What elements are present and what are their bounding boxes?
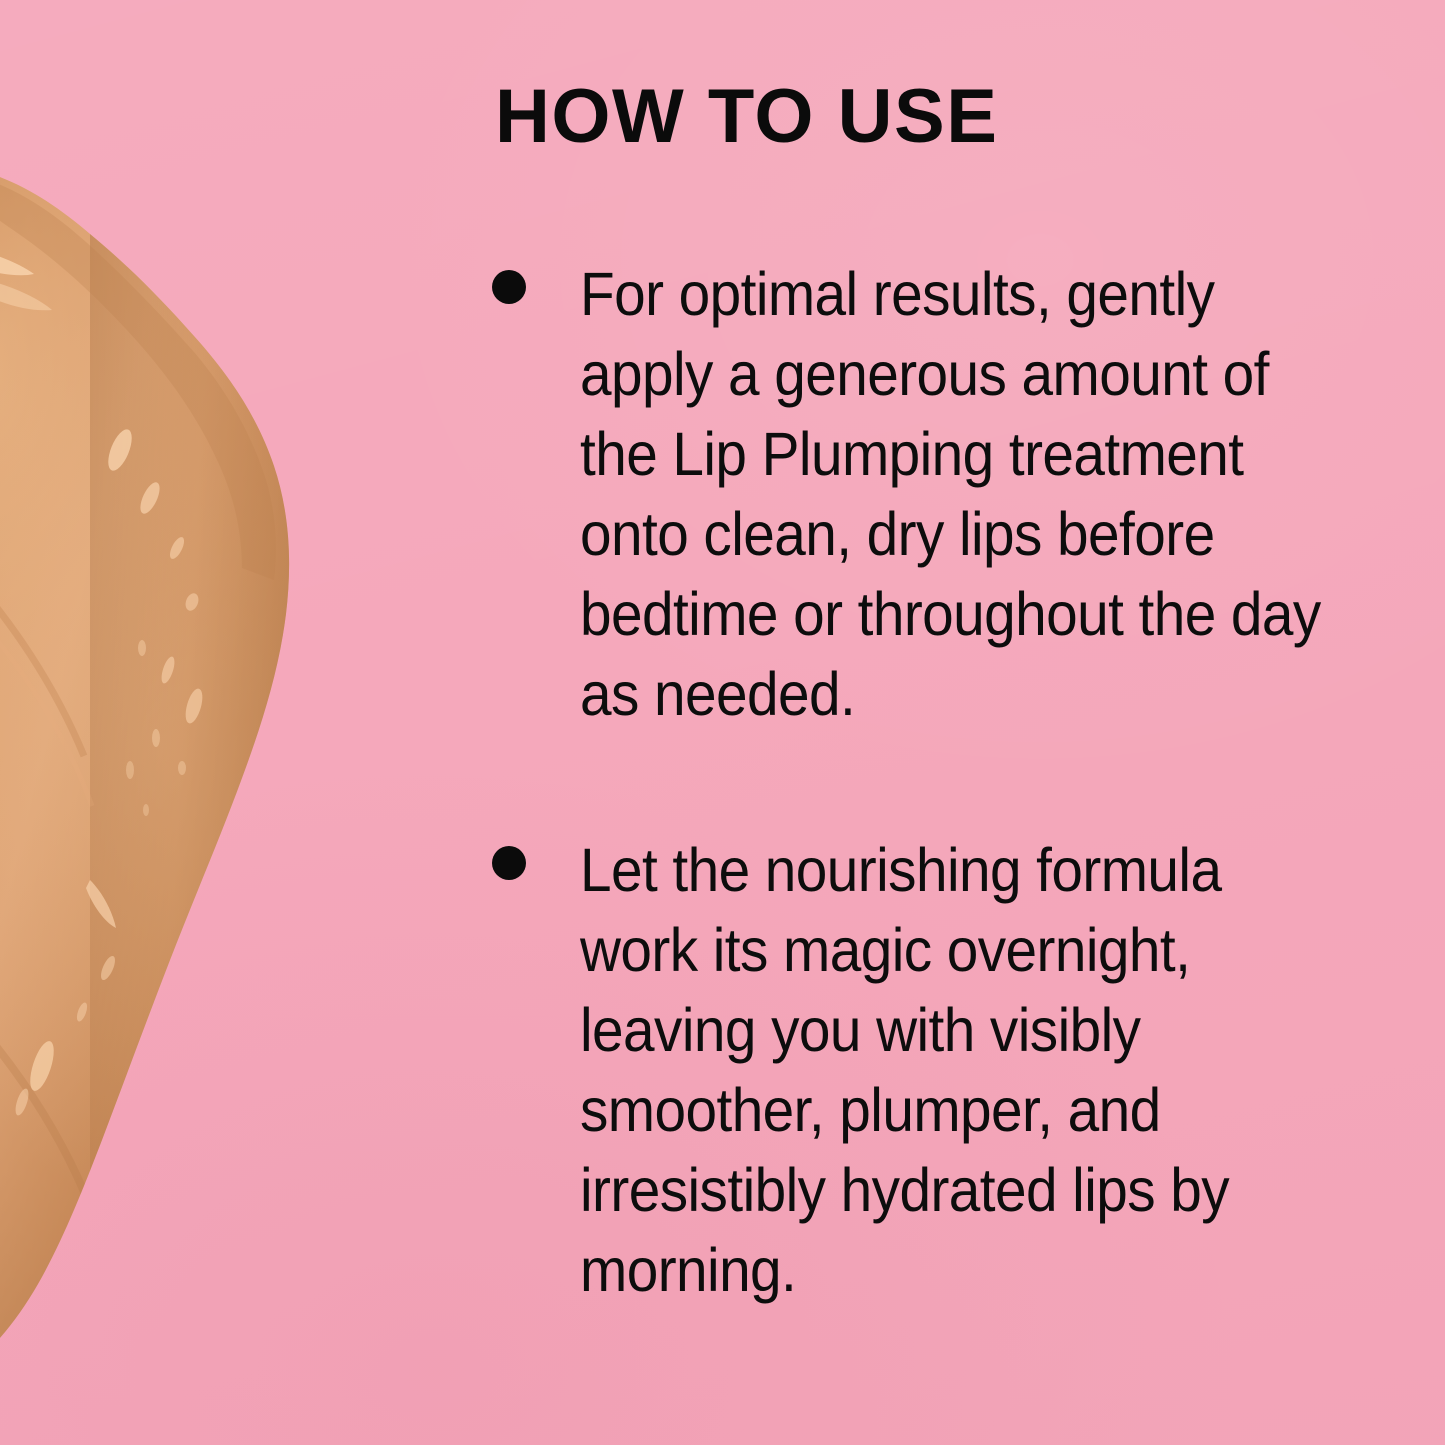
swatch-shading xyxy=(0,150,460,1445)
page-title: HOW TO USE xyxy=(495,76,1382,158)
cream-product-swatch xyxy=(0,150,460,1445)
bullet-dot-icon xyxy=(492,846,526,880)
list-item-text: For optimal results, gently apply a gene… xyxy=(580,254,1326,734)
list-item-text: Let the nourishing formula work its magi… xyxy=(580,830,1326,1310)
how-to-use-list: For optimal results, gently apply a gene… xyxy=(492,254,1382,1310)
list-item: Let the nourishing formula work its magi… xyxy=(492,830,1382,1310)
cream-product-swatch-graphic xyxy=(0,150,460,1445)
bullet-dot-icon xyxy=(492,270,526,304)
promo-card: HOW TO USE For optimal results, gently a… xyxy=(0,0,1445,1445)
instructions-panel: HOW TO USE For optimal results, gently a… xyxy=(492,76,1382,1310)
list-item: For optimal results, gently apply a gene… xyxy=(492,254,1382,734)
